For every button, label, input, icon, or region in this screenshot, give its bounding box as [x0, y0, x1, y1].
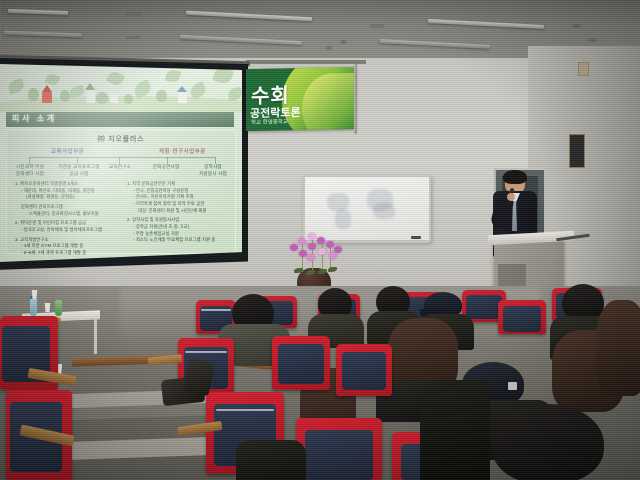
audience-head — [492, 404, 604, 480]
house-icon — [110, 94, 118, 103]
leaf-icon — [165, 69, 181, 84]
smoke-detector — [572, 24, 581, 28]
house-roof-icon — [42, 85, 52, 92]
ceiling-beam — [246, 60, 366, 64]
bullet-line: - 장학금 지원(관내 초·중·고교) — [127, 224, 231, 231]
seat-rail — [185, 351, 227, 353]
projection-screen: 피사 소개 ㈜ 지오플러스 교육사업부문 체험·연구사업부문 시민과학 부설 문… — [0, 64, 242, 262]
orchid-blossom — [329, 252, 337, 259]
seat-cushion — [503, 306, 541, 332]
orchid-blossom — [290, 244, 298, 251]
seat-rail — [201, 309, 231, 311]
flower-stem — [322, 240, 323, 272]
slide-right-bullets: 1. 지역 문화공연부문 기획 - 연극, 전통공연마당 구성운영 - 콘서트,… — [127, 181, 231, 244]
org-chart-node: 시민과학 부설 문화센터 사업 — [9, 164, 51, 177]
presenter-hair — [503, 170, 527, 184]
orchid-arrangement — [288, 232, 342, 274]
water-bottle[interactable] — [55, 300, 62, 316]
bullet-line: 대상: 문화센터 회원 및 시민단체 회원 — [127, 208, 231, 215]
leaf-icon — [106, 69, 125, 88]
slide-branch-right-label: 체험·연구사업부문 — [159, 147, 206, 155]
lecture-hall-photo: 피사 소개 ㈜ 지오플러스 교육사업부문 체험·연구사업부문 시민과학 부설 문… — [0, 0, 640, 480]
slide-body: ㈜ 지오플러스 교육사업부문 체험·연구사업부문 시민과학 부설 문화센터 사업… — [6, 130, 236, 254]
bullet-line: - 4세 미만 GYM 프로그램 개발 중 — [15, 243, 119, 250]
org-chart-node: 장학사업 지원봉사 사업 — [193, 164, 233, 177]
presenter-hand — [507, 193, 515, 201]
house-icon — [178, 92, 187, 103]
bullet-line: - 지역축제 참여 협력 및 지역 무료 공연 — [127, 201, 231, 208]
banner-pole — [354, 64, 357, 134]
smoke-detector — [326, 46, 332, 50]
bullet-line: 2. 장학사업 및 자원봉사사업 — [127, 217, 231, 224]
orchid-blossom — [318, 248, 326, 255]
bullet-line: 2. 위탁운영 및 어린이집 프로그램 공급 — [15, 220, 119, 227]
wall-speaker — [569, 134, 585, 168]
orchid-blossom — [326, 241, 334, 248]
bullet-line: 1. ㈜지오문화센터 직영운영 5개소 — [15, 181, 119, 188]
tree-icon — [96, 92, 108, 104]
house-roof-icon — [177, 86, 187, 92]
tree-icon — [156, 90, 167, 102]
ceiling-vent — [126, 12, 142, 16]
bullet-line: 문화센터 관리프로그램 — [15, 204, 119, 211]
slide-subtitle: ㈜ 지오플러스 — [7, 134, 235, 144]
orchid-blossom — [298, 238, 306, 245]
tree-icon — [124, 94, 133, 104]
orchid-blossom — [317, 237, 325, 244]
seat-cushion — [305, 430, 373, 480]
seat-cushion — [278, 344, 324, 384]
bullet-line: 1. 지역 문화공연부문 기획 — [127, 181, 231, 188]
wall-fixture — [578, 62, 589, 76]
bullet-line: - 콘서트, 어린이뮤지컬 기획 주최 — [127, 194, 231, 201]
whiteboard-marker — [411, 236, 421, 239]
tree-icon — [28, 88, 39, 101]
smoke-detector — [588, 38, 597, 42]
seat-cushion — [342, 352, 386, 390]
orchid-blossom — [307, 254, 315, 261]
bullet-line: (개설예정: 화명동, 문현동) — [15, 194, 119, 201]
orchid-blossom — [334, 246, 342, 253]
house-roof-icon — [85, 83, 95, 90]
cap-logo-icon — [508, 382, 517, 390]
orchid-blossom — [308, 233, 316, 240]
table-leg — [94, 318, 97, 354]
audience-hair — [596, 300, 640, 396]
house-icon — [86, 90, 95, 103]
ceiling-vent — [370, 24, 384, 28]
flower-leaf — [328, 267, 337, 272]
flower-leaf — [294, 268, 303, 273]
leaf-icon — [6, 78, 25, 95]
bullet-line: - 방과후교실, 유아체육 및 영어체육프로그램 — [15, 227, 119, 234]
org-chart-connector — [119, 157, 120, 164]
org-chart-node: 교직연구소 — [103, 164, 137, 171]
tree-icon — [60, 90, 70, 102]
flower-leaf — [318, 269, 327, 274]
seat-rail — [216, 409, 274, 411]
banner-footnote: 학교 한영중학교 — [251, 117, 288, 126]
bullet-line: - 5~6세, 7세 과학 프로그램 개발 중 — [15, 250, 119, 257]
orchid-blossom — [299, 250, 307, 257]
event-banner: 수회 공전락토론 학교 한영중학교 — [246, 67, 356, 131]
whiteboard-marking — [373, 203, 395, 219]
house-icon — [42, 92, 52, 103]
bullet-line: - 스케쥴관리, 강사파견시스템, 홍보지원 — [15, 211, 119, 218]
audience-shoulders — [420, 380, 490, 480]
org-chart-connector — [215, 157, 216, 164]
org-chart-connector — [167, 157, 168, 164]
smoke-detector — [340, 40, 347, 44]
bullet-line: - 저소득·노인계층 무료체험 프로그램 지원 중 — [127, 237, 231, 244]
whiteboard-marking — [335, 209, 351, 229]
ceiling-vent — [126, 36, 140, 39]
org-chart-connector — [77, 157, 78, 164]
orchid-blossom — [308, 243, 316, 250]
org-chart-connector — [29, 157, 30, 164]
org-chart-connector — [29, 157, 215, 158]
org-chart-node: 기관용 교육프로그램 공급 사업 — [57, 164, 101, 177]
water-bottle[interactable] — [30, 298, 37, 316]
slide-branch-left-label: 교육사업부문 — [51, 147, 84, 155]
slide-header-graphic — [0, 64, 242, 112]
org-chart-node: 문화공연사업 — [145, 164, 187, 171]
audience-shoulders — [236, 440, 306, 480]
slide-title: 피사 소개 — [12, 113, 57, 124]
slide-left-bullets: 1. ㈜지오문화센터 직영운영 5개소 - 해운대, 마산로, 다대동, 덕계동… — [15, 181, 119, 257]
seat-cushion — [466, 295, 502, 319]
leaf-icon — [227, 87, 242, 102]
